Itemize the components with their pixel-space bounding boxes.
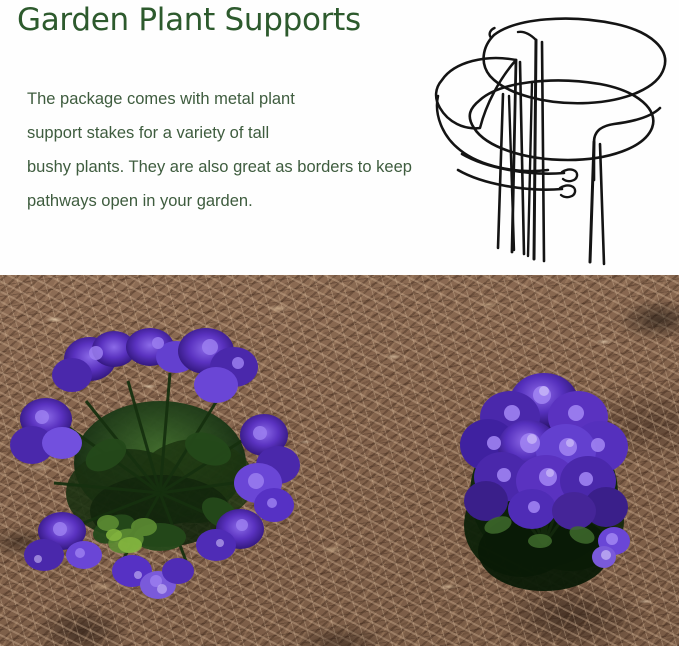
product-infographic: Garden Plant Supports The package comes … (0, 0, 679, 646)
plant-before-unsupported (10, 323, 310, 623)
page-title: Garden Plant Supports (17, 2, 361, 38)
info-panel: Garden Plant Supports The package comes … (0, 0, 679, 275)
before-after-photo (0, 275, 679, 646)
plant-after-supported (436, 325, 666, 605)
plant-support-illustration-icon (424, 4, 676, 266)
